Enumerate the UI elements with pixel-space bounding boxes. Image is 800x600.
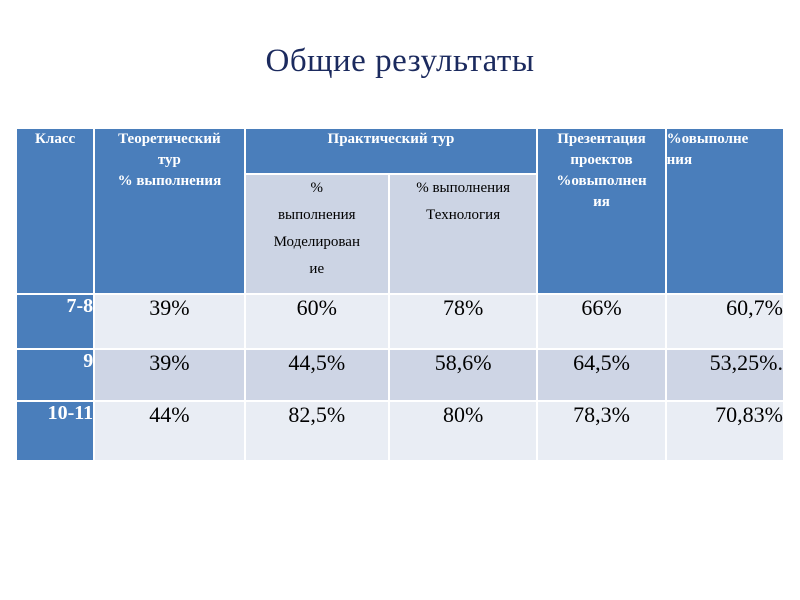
results-table-container: Класс Теоретический тур % выполнения Пра… bbox=[15, 127, 785, 462]
row-label-class: 9 bbox=[17, 350, 93, 400]
header-modeling-line1: % bbox=[246, 175, 388, 202]
cell-total: 53,25%. bbox=[667, 350, 783, 400]
header-technology-line2: Технология bbox=[390, 202, 536, 229]
header-theory-line2: тур bbox=[95, 150, 243, 171]
header-presentation-line1: Презентация bbox=[538, 129, 664, 150]
header-presentation-line2: проектов bbox=[538, 150, 664, 171]
slide: Общие результаты Класс Теоретический тур bbox=[0, 0, 800, 600]
table-header-row-primary: Класс Теоретический тур % выполнения Пра… bbox=[17, 129, 783, 173]
header-cell-total: %овыполне ния bbox=[667, 129, 783, 293]
page-title: Общие результаты bbox=[0, 40, 800, 82]
table-row: 10-11 44% 82,5% 80% 78,3% 70,83% bbox=[17, 402, 783, 460]
cell-presentation: 78,3% bbox=[538, 402, 664, 460]
cell-presentation: 64,5% bbox=[538, 350, 664, 400]
cell-theory: 44% bbox=[95, 402, 243, 460]
header-presentation-line4: ия bbox=[538, 192, 664, 213]
table-row: 7-8 39% 60% 78% 66% 60,7% bbox=[17, 295, 783, 348]
header-technology-line1: % выполнения bbox=[390, 175, 536, 202]
cell-theory: 39% bbox=[95, 295, 243, 348]
header-modeling-line4: ие bbox=[246, 256, 388, 283]
cell-modeling: 44,5% bbox=[246, 350, 388, 400]
header-cell-presentation: Презентация проектов %овыполнен ия bbox=[538, 129, 664, 293]
row-label-class: 10-11 bbox=[17, 402, 93, 460]
row-label-class: 7-8 bbox=[17, 295, 93, 348]
cell-total: 60,7% bbox=[667, 295, 783, 348]
header-presentation-line3: %овыполнен bbox=[538, 171, 664, 192]
header-cell-technology: % выполнения Технология bbox=[390, 175, 536, 293]
cell-technology: 80% bbox=[390, 402, 536, 460]
cell-technology: 78% bbox=[390, 295, 536, 348]
results-table: Класс Теоретический тур % выполнения Пра… bbox=[15, 127, 785, 462]
cell-modeling: 60% bbox=[246, 295, 388, 348]
header-modeling-line3: Моделирован bbox=[246, 229, 388, 256]
header-modeling-line2: выполнения bbox=[246, 202, 388, 229]
header-total-line1: %овыполне bbox=[667, 129, 783, 150]
header-cell-class: Класс bbox=[17, 129, 93, 293]
cell-technology: 58,6% bbox=[390, 350, 536, 400]
header-cell-theory: Теоретический тур % выполнения bbox=[95, 129, 243, 293]
header-total-line2: ния bbox=[667, 150, 783, 171]
cell-total: 70,83% bbox=[667, 402, 783, 460]
header-cell-practical: Практический тур bbox=[246, 129, 537, 173]
cell-presentation: 66% bbox=[538, 295, 664, 348]
cell-modeling: 82,5% bbox=[246, 402, 388, 460]
header-theory-line1: Теоретический bbox=[95, 129, 243, 150]
cell-theory: 39% bbox=[95, 350, 243, 400]
header-theory-line3: % выполнения bbox=[95, 171, 243, 192]
table-row: 9 39% 44,5% 58,6% 64,5% 53,25%. bbox=[17, 350, 783, 400]
header-cell-modeling: % выполнения Моделирован ие bbox=[246, 175, 388, 293]
